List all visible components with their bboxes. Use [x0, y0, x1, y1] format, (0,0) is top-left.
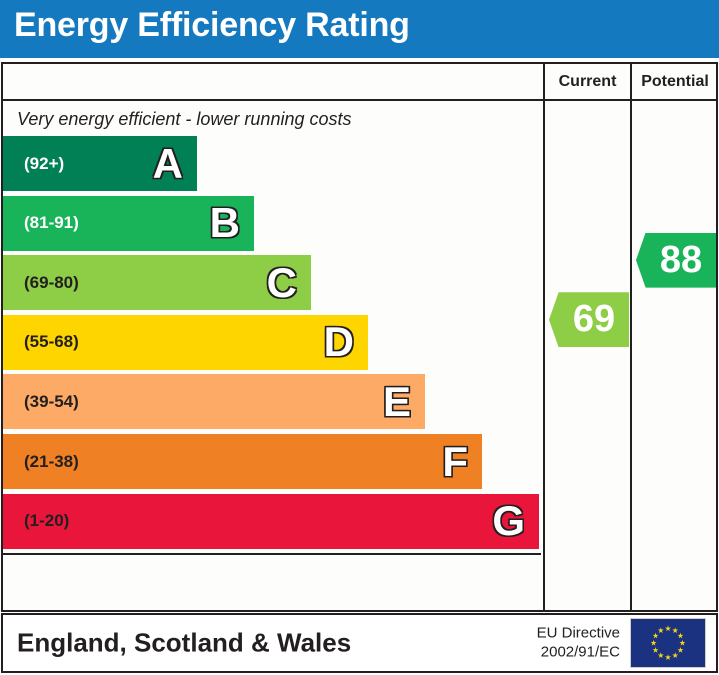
- band-row-b: (81-91)B: [3, 196, 254, 251]
- band-letter-b: B: [210, 202, 240, 244]
- page-title: Energy Efficiency Rating: [14, 6, 410, 45]
- band-row-f: (21-38)F: [3, 434, 482, 489]
- band-letter-e: E: [383, 381, 411, 423]
- band-letter-g: G: [492, 500, 525, 542]
- footer-bar: England, Scotland & Wales EU Directive 2…: [1, 613, 718, 673]
- band-row-e: (39-54)E: [3, 374, 425, 429]
- energy-efficiency-rating-chart: Energy Efficiency Rating Current Potenti…: [0, 0, 719, 675]
- band-letter-f: F: [442, 441, 468, 483]
- table-header-row: Current Potential: [3, 64, 716, 101]
- band-row-g: (1-20)G: [3, 494, 539, 549]
- rating-arrow-current: 69: [549, 292, 629, 347]
- band-row-d: (55-68)D: [3, 315, 368, 370]
- footer-region-label: England, Scotland & Wales: [17, 628, 351, 659]
- eu-flag-stars: [631, 619, 705, 667]
- band-range-g: (1-20): [24, 511, 69, 531]
- band-range-c: (69-80): [24, 273, 79, 293]
- directive-line-2: 2002/91/EC: [537, 643, 620, 662]
- chart-title-bar: Energy Efficiency Rating: [0, 0, 719, 58]
- band-letter-d: D: [324, 321, 354, 363]
- band-range-f: (21-38): [24, 452, 79, 472]
- band-row-c: (69-80)C: [3, 255, 311, 310]
- caption-top: Very energy efficient - lower running co…: [17, 109, 352, 130]
- footer-directive-label: EU Directive 2002/91/EC: [537, 624, 620, 662]
- band-range-d: (55-68): [24, 332, 79, 352]
- directive-line-1: EU Directive: [537, 624, 620, 643]
- rating-arrow-potential: 88: [636, 233, 716, 288]
- column-header-potential: Potential: [632, 64, 718, 99]
- column-divider-current-body: [543, 101, 545, 612]
- rating-table: Current Potential Very energy efficient …: [1, 62, 718, 612]
- column-divider-potential-body: [630, 101, 632, 612]
- eu-flag-icon: [630, 618, 706, 668]
- band-letter-a: A: [153, 143, 183, 185]
- band-range-b: (81-91): [24, 213, 79, 233]
- band-letter-c: C: [267, 262, 297, 304]
- band-range-e: (39-54): [24, 392, 79, 412]
- band-row-a: (92+)A: [3, 136, 197, 191]
- band-range-a: (92+): [24, 154, 64, 174]
- band-list: (92+)A(81-91)B(69-80)C(55-68)D(39-54)E(2…: [3, 136, 541, 556]
- column-header-current: Current: [545, 64, 630, 99]
